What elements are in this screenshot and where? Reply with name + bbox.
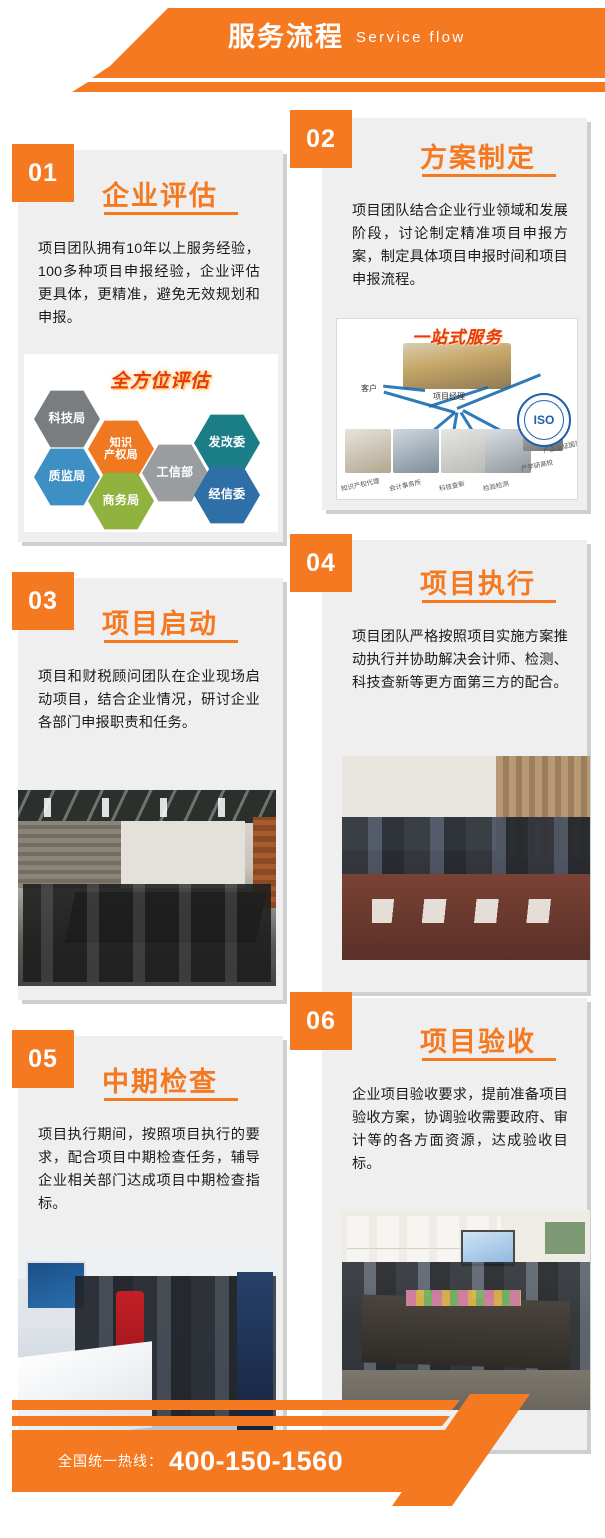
card-title-underline xyxy=(104,1098,238,1101)
oss-thumb-search xyxy=(441,429,487,473)
hex-evaluation-diagram: 全方位评估 科技局 知识 产权局 发改委 质监局 工信部 商务局 经信委 xyxy=(24,354,278,532)
oss-node-manager: 项目经理 xyxy=(433,391,465,402)
hex-node-zhishichanquan: 知识 产权局 xyxy=(88,420,154,478)
page-header: 服务流程 Service flow xyxy=(0,8,605,100)
photo-presentation-screen xyxy=(461,1230,515,1266)
card-number-badge: 04 xyxy=(290,534,352,592)
process-card-03[interactable]: 03 项目启动 项目和财税顾问团队在企业现场启动项目，结合企业情况，研讨企业各部… xyxy=(18,578,283,1000)
card-title: 项目启动 xyxy=(102,602,218,641)
card-title-underline xyxy=(104,640,238,643)
card-number-badge: 03 xyxy=(12,572,74,630)
card-title: 企业评估 xyxy=(102,174,218,213)
process-card-02[interactable]: 02 方案制定 项目团队结合企业行业领域和发展阶段，讨论制定精准项目申报方案，制… xyxy=(322,118,587,510)
card-body-text: 项目团队拥有10年以上服务经验，100多种项目申报经验，企业评估更具体，更精准，… xyxy=(38,238,260,330)
header-title-wrap: 服务流程 Service flow xyxy=(0,8,605,66)
card-title-underline xyxy=(422,1058,556,1061)
photo-wall-left xyxy=(18,821,121,888)
card-body-text: 项目团队结合企业行业领域和发展阶段，讨论制定精准项目申报方案，制定具体项目申报时… xyxy=(352,200,568,292)
hotline-number[interactable]: 400-150-1560 xyxy=(169,1446,343,1477)
card-body-text: 项目团队严格按照项目实施方案推动执行并协助解决会计师、检测、科技查新等更方面第三… xyxy=(352,626,568,695)
oss-branch-label-3: 科技查新 xyxy=(438,478,466,493)
card-title-underline xyxy=(422,174,556,177)
photo-meeting-table xyxy=(342,756,590,960)
card-number-badge: 05 xyxy=(12,1030,74,1088)
card-title-underline xyxy=(104,212,238,215)
card-title: 中期检查 xyxy=(102,1060,218,1099)
hex-diagram-title: 全方位评估 xyxy=(110,366,210,393)
card-title: 项目执行 xyxy=(420,562,536,601)
oss-node-customer: 客户 xyxy=(361,383,377,394)
hex-node-zhijianju: 质监局 xyxy=(34,448,100,506)
process-card-05[interactable]: 05 中期检查 项目执行期间，按照项目执行的要求，配合项目中期检查任务，辅导企业… xyxy=(18,1036,283,1448)
oss-thumb-accounting xyxy=(393,429,439,473)
header-banner-stripe-2 xyxy=(0,82,605,92)
one-stop-service-diagram: 一站式服务 客户 项目经理 知识产权代理 会计事务所 科技查 xyxy=(336,318,578,500)
process-card-grid: 01 企业评估 项目团队拥有10年以上服务经验，100多种项目申报经验，企业评估… xyxy=(0,100,605,1400)
infographic-page: 服务流程 Service flow 01 企业评估 项目团队拥有10年以上服务经… xyxy=(0,0,605,1538)
photo-flowers xyxy=(406,1290,520,1306)
card-title: 项目验收 xyxy=(420,1020,536,1059)
hex-node-fagaiwei: 发改委 xyxy=(194,414,260,472)
page-subtitle: Service flow xyxy=(356,30,466,45)
hex-node-keji: 科技局 xyxy=(34,390,100,448)
photo-conference-room xyxy=(18,790,276,986)
card-title-underline xyxy=(422,600,556,603)
footer-hotline: 全国统一热线： 400-150-1560 xyxy=(0,1430,470,1492)
photo-papers xyxy=(372,899,560,923)
oss-branch-label-4: 检验检测 xyxy=(482,478,510,493)
card-number-badge: 02 xyxy=(290,110,352,168)
card-body-text: 项目执行期间，按照项目执行的要求，配合项目中期检查任务，辅导企业相关部门达成项目… xyxy=(38,1124,260,1216)
page-footer: 全国统一热线： 400-150-1560 xyxy=(0,1400,605,1538)
process-card-04[interactable]: 04 项目执行 项目团队严格按照项目实施方案推动执行并协助解决会计师、检测、科技… xyxy=(322,540,587,992)
card-title: 方案制定 xyxy=(420,136,536,175)
oss-branch-label-2: 会计事务所 xyxy=(388,476,422,493)
photo-chairs xyxy=(23,884,271,982)
photo-green-panel xyxy=(545,1222,585,1254)
photo-lights xyxy=(18,798,276,818)
card-number-badge: 01 xyxy=(12,144,74,202)
photo-wall-right xyxy=(121,821,245,888)
oss-thumb-ip xyxy=(345,429,391,473)
hotline-label: 全国统一热线： xyxy=(58,1451,163,1471)
photo-boardroom xyxy=(342,1210,590,1410)
card-number-badge: 06 xyxy=(290,992,352,1050)
header-banner-stripe-1 xyxy=(0,66,605,78)
oss-hero-photo xyxy=(403,343,511,389)
hex-node-shangwuju: 商务局 xyxy=(88,472,154,530)
page-title: 服务流程 xyxy=(228,24,344,51)
footer-stripe-2 xyxy=(0,1416,605,1426)
iso-certification-badge: ISO xyxy=(517,393,571,447)
oss-title: 一站式服务 xyxy=(412,323,502,348)
card-body-text: 企业项目验收要求，提前准备项目验收方案，协调验收需要政府、审计等的各方面资源，达… xyxy=(352,1084,568,1176)
card-body-text: 项目和财税顾问团队在企业现场启动项目，结合企业情况，研讨企业各部门申报职责和任务… xyxy=(38,666,260,735)
process-card-06[interactable]: 06 项目验收 企业项目验收要求，提前准备项目验收方案，协调验收需要政府、审计等… xyxy=(322,998,587,1450)
oss-branch-label-1: 知识产权代理 xyxy=(340,475,380,493)
process-card-01[interactable]: 01 企业评估 项目团队拥有10年以上服务经验，100多种项目申报经验，企业评估… xyxy=(18,150,283,542)
